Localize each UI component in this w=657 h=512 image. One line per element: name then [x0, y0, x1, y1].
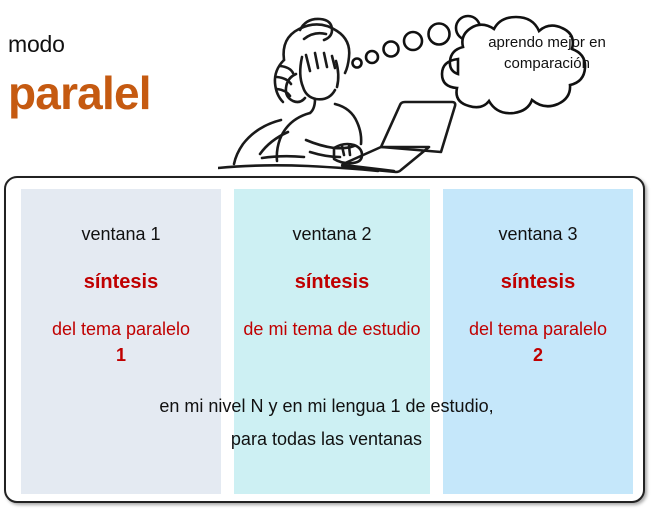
column-detail-line2-1: 1	[21, 342, 221, 368]
thought-bubble-line-2: en	[589, 34, 606, 51]
window-label-1: ventana 1	[21, 224, 221, 245]
windows-panel: ventana 1 síntesis del tema paralelo 1 v…	[4, 176, 645, 503]
header-area: modo paralel	[0, 0, 657, 175]
window-label-3: ventana 3	[443, 224, 633, 245]
column-detail-line1-1: del tema paralelo	[52, 319, 190, 339]
window-column-3[interactable]: ventana 3 síntesis del tema paralelo 2	[443, 189, 633, 494]
column-detail-line1-3: del tema paralelo	[469, 319, 607, 339]
column-detail-line2-3: 2	[443, 342, 633, 368]
synthesis-label-2: síntesis	[234, 271, 430, 294]
window-column-1[interactable]: ventana 1 síntesis del tema paralelo 1	[21, 189, 221, 494]
column-detail-1: del tema paralelo 1	[21, 316, 221, 368]
window-column-2[interactable]: ventana 2 síntesis de mi tema de estudio	[234, 189, 430, 494]
column-detail-line2-2: de estudio	[337, 319, 420, 339]
thought-bubble-line-3: comparación	[504, 55, 590, 72]
window-label-2: ventana 2	[234, 224, 430, 245]
column-detail-2: de mi tema de estudio	[234, 316, 430, 342]
page-title-mode-word: modo	[8, 31, 65, 58]
column-detail-3: del tema paralelo 2	[443, 316, 633, 368]
thought-bubble-text: aprendo mejor en comparación	[462, 32, 632, 74]
page-title-paralel-word: paralel	[8, 66, 151, 120]
synthesis-label-3: síntesis	[443, 271, 633, 294]
column-detail-line1-2: de mi tema	[243, 319, 332, 339]
thought-bubble-line-1: aprendo mejor	[488, 34, 585, 51]
synthesis-label-1: síntesis	[21, 271, 221, 294]
